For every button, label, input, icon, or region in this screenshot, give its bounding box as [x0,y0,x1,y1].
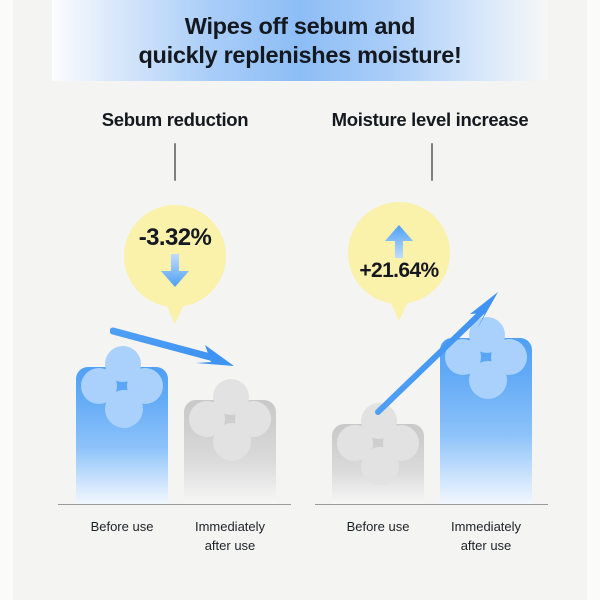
xlabel-after-use-moisture: Immediately after use [411,517,561,555]
headline-banner: Wipes off sebum and quickly replenishes … [52,0,548,81]
chart-moisture-increase: Before use Immediately after use +21.64% [300,0,600,600]
arrow-down-icon [160,254,190,288]
axis-baseline-right [315,504,548,505]
callout-tail [164,300,186,324]
xlabel-text-line2: after use [411,536,561,555]
trend-arrow-down-sebum [110,325,240,370]
callout-badge-sebum: -3.32% [124,205,226,307]
bar-after-use-sebum [184,400,276,504]
callout-badge-moisture: +21.64% [348,202,450,304]
xlabel-after-use-sebum: Immediately after use [155,517,305,555]
headline-line-1: Wipes off sebum and [185,12,415,41]
bar-before-use-moisture [332,424,424,504]
axis-baseline-left [58,504,291,505]
callout-value-moisture: +21.64% [359,259,438,283]
arrow-up-icon [384,224,414,258]
xlabel-text-line2: after use [155,536,305,555]
infographic-canvas: Wipes off sebum and quickly replenishes … [0,0,600,600]
chart-sebum-reduction: Before use Immediately after use -3.32% [0,0,300,600]
xlabel-text-line1: Immediately [155,517,305,536]
callout-tail [388,297,410,321]
callout-value-sebum: -3.32% [139,224,211,252]
xlabel-text-line1: Immediately [411,517,561,536]
headline-line-2: quickly replenishes moisture! [138,41,461,70]
bar-before-use-sebum [76,367,168,504]
